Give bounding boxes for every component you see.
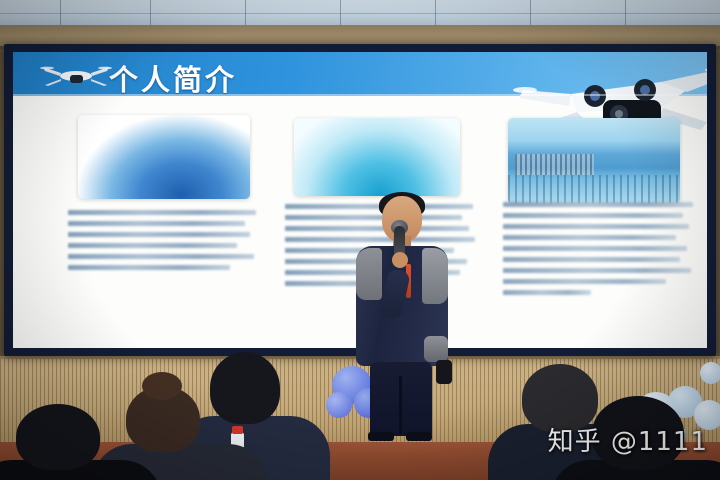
speaker-shoe-right xyxy=(406,432,432,441)
presentation-photo: 个人简介 xyxy=(0,0,720,480)
ceiling xyxy=(0,0,720,26)
watermark: 知乎 @1111 xyxy=(548,421,708,458)
speaker-shoulder-right xyxy=(422,248,448,304)
slide-text-column-1 xyxy=(68,210,256,276)
presenter-remote xyxy=(436,360,452,384)
slide-photo-1 xyxy=(78,115,250,199)
slide-photo-2 xyxy=(294,118,460,196)
speaker-leg-split xyxy=(399,376,402,434)
speaker-hand xyxy=(392,252,408,268)
slide-banner: 个人简介 xyxy=(13,52,707,96)
slide-photo-3 xyxy=(508,118,680,204)
speaker-shoulder-left xyxy=(356,248,382,300)
slide-text-column-3 xyxy=(503,202,695,301)
slide-title: 个人简介 xyxy=(109,57,237,99)
speaker-cuff xyxy=(424,336,448,362)
speaker xyxy=(348,196,456,444)
speaker-shoe-left xyxy=(368,432,394,441)
balloon-right-5 xyxy=(700,362,720,384)
drone-small-icon xyxy=(39,62,113,90)
audience-front-left xyxy=(0,404,156,480)
